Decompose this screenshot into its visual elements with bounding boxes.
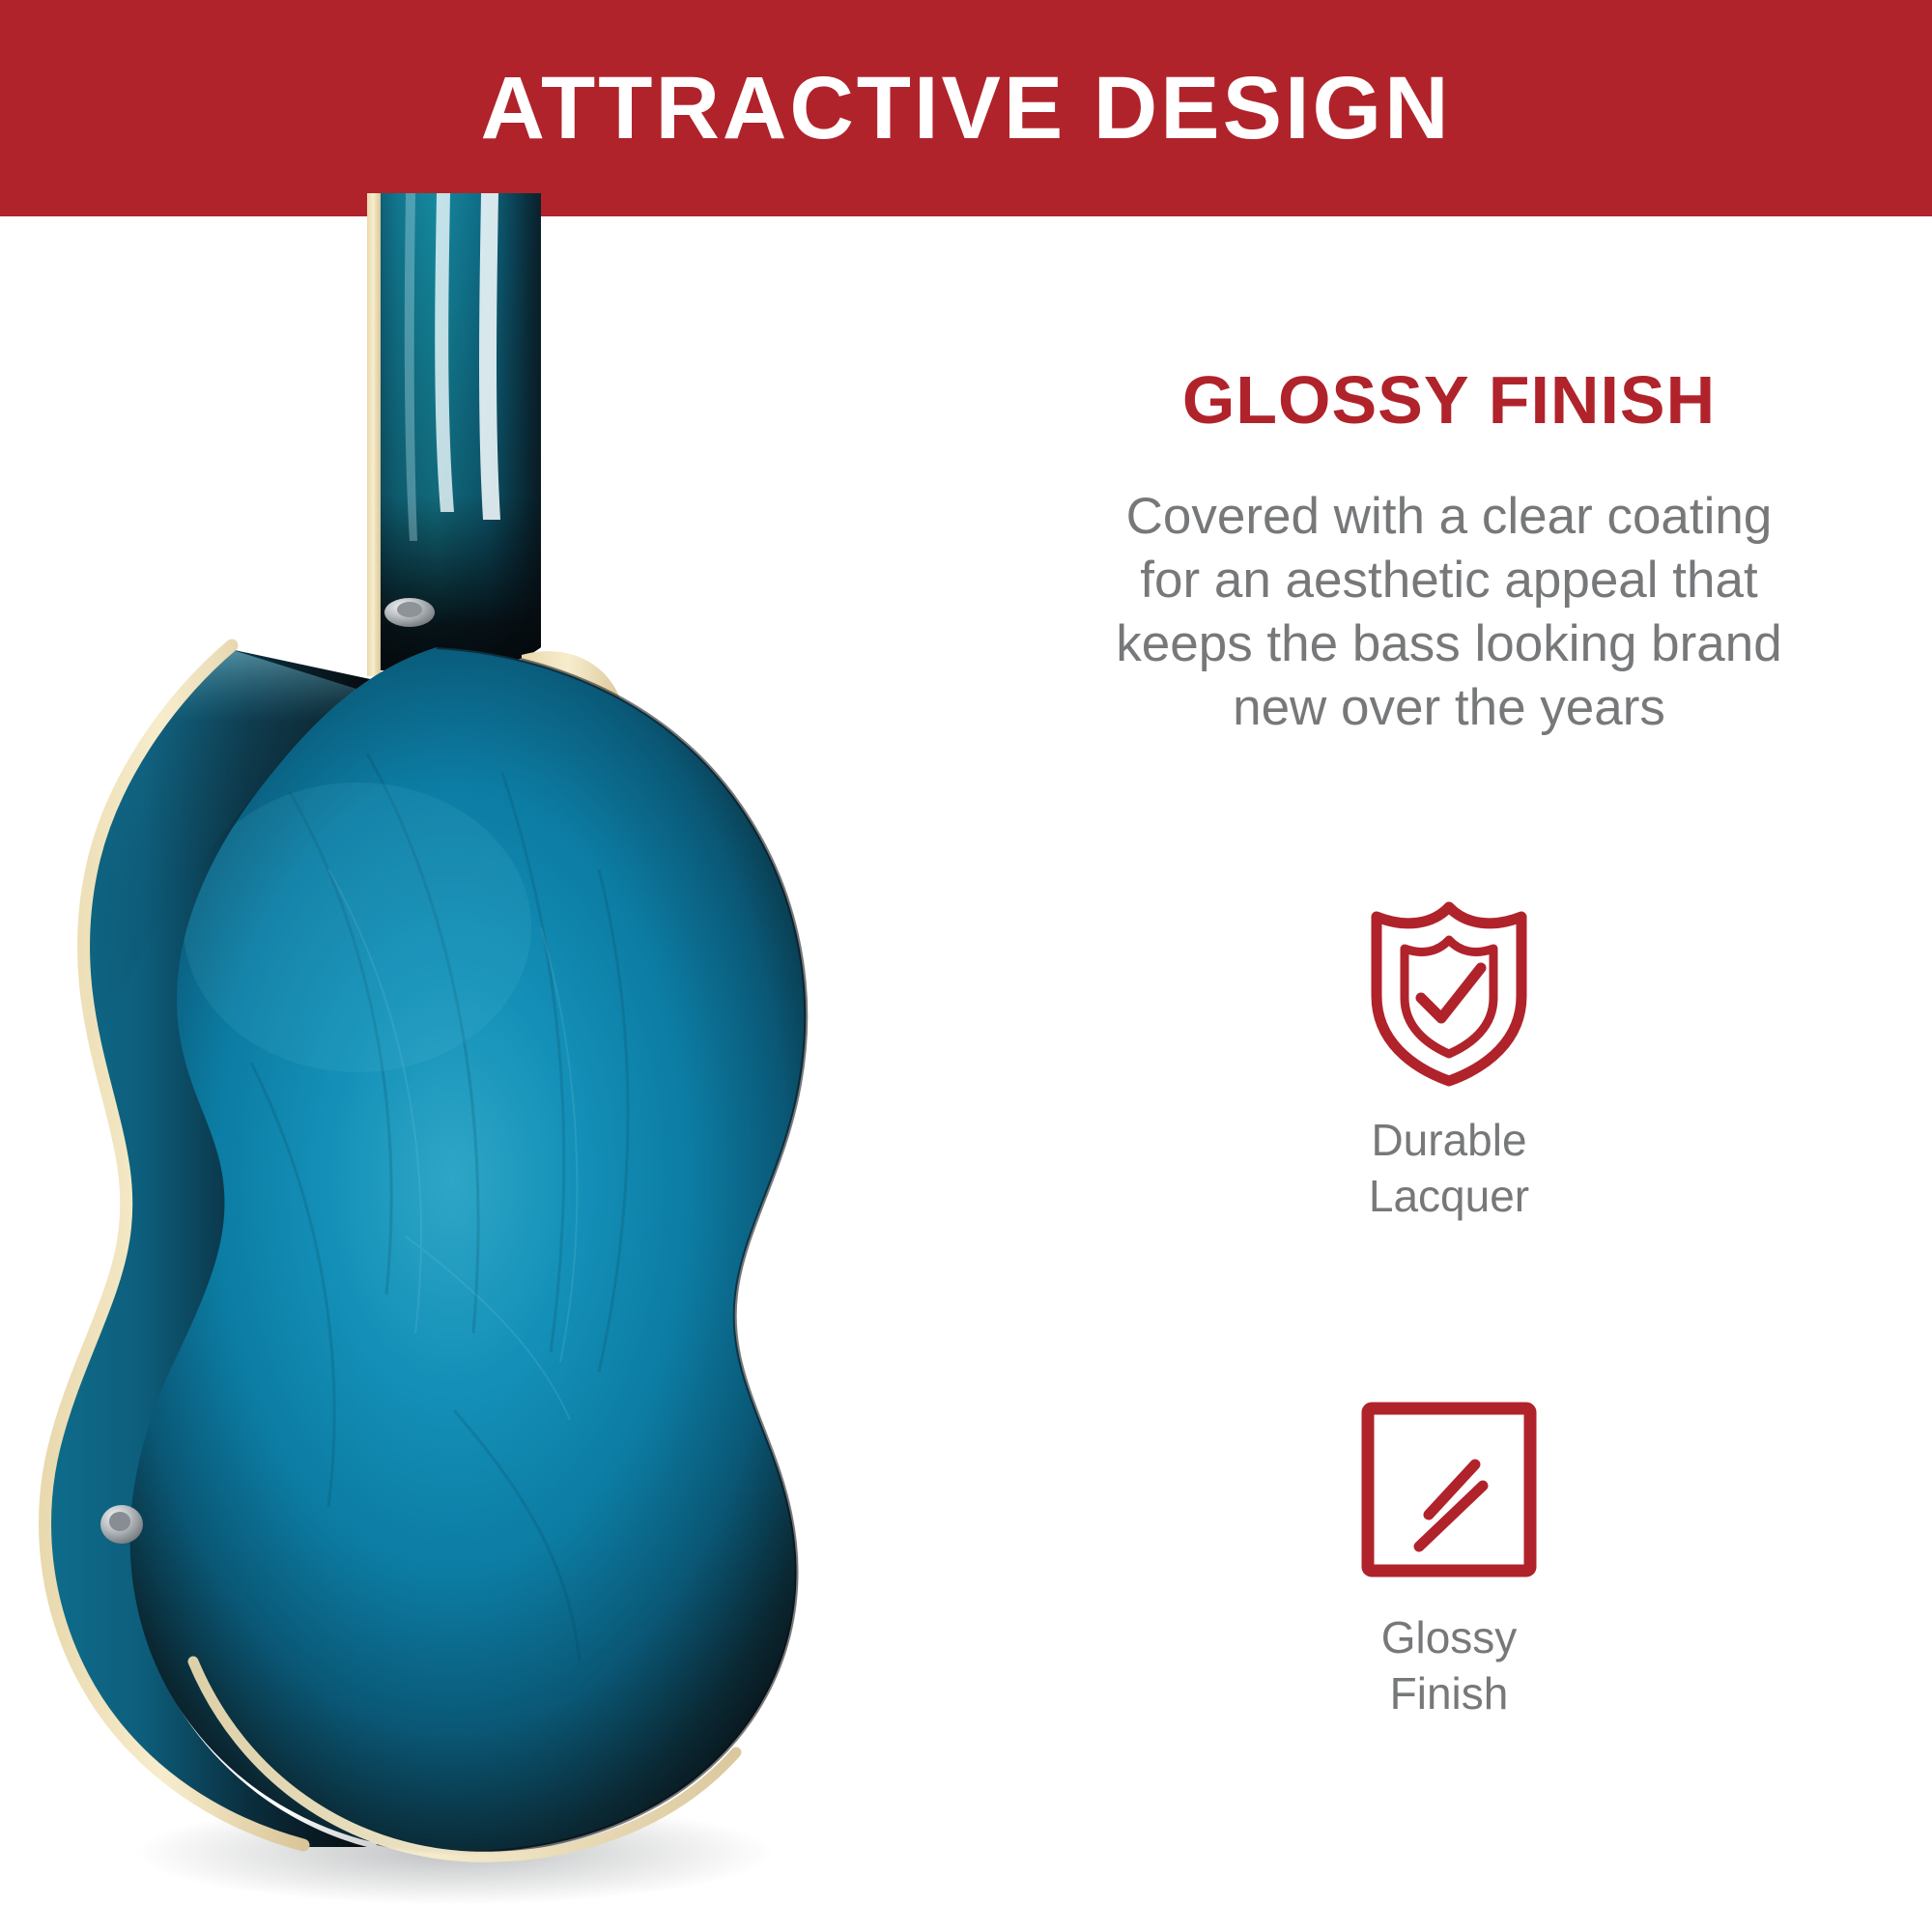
section-headline: GLOSSY FINISH (966, 366, 1932, 434)
banner-title: ATTRACTIVE DESIGN (480, 64, 1451, 153)
bass-guitar-illustration (0, 193, 966, 1932)
feature-label: Glossy Finish (966, 1609, 1932, 1721)
feature-icon-wrap (966, 893, 1932, 1091)
content-stage: GLOSSY FINISH Covered with a clear coati… (0, 216, 1932, 1932)
shield-check-icon (1365, 895, 1534, 1089)
feature-info-column: GLOSSY FINISH Covered with a clear coati… (966, 216, 1932, 1932)
feature-glossy-finish: Glossy Finish (966, 1390, 1932, 1721)
feature-label-line: Finish (966, 1665, 1932, 1721)
feature-label-line: Durable (966, 1112, 1932, 1168)
feature-label-line: Glossy (966, 1609, 1932, 1665)
header-banner: ATTRACTIVE DESIGN (0, 0, 1932, 216)
strap-button-lower (100, 1505, 143, 1544)
description-line: keeps the bass looking brand (1005, 612, 1893, 676)
product-photo (0, 193, 966, 1932)
description-line: new over the years (1005, 676, 1893, 740)
neck-binding (367, 193, 381, 676)
description-line: for an aesthetic appeal that (1005, 549, 1893, 612)
feature-icon-wrap (966, 1390, 1932, 1588)
feature-label-line: Lacquer (966, 1168, 1932, 1224)
section-description: Covered with a clear coating for an aest… (1005, 485, 1893, 740)
feature-label: Durable Lacquer (966, 1112, 1932, 1224)
strap-button-upper (384, 598, 435, 627)
description-line: Covered with a clear coating (1005, 485, 1893, 549)
glossy-square-shine-icon (1359, 1400, 1539, 1579)
feature-durable-lacquer: Durable Lacquer (966, 893, 1932, 1224)
